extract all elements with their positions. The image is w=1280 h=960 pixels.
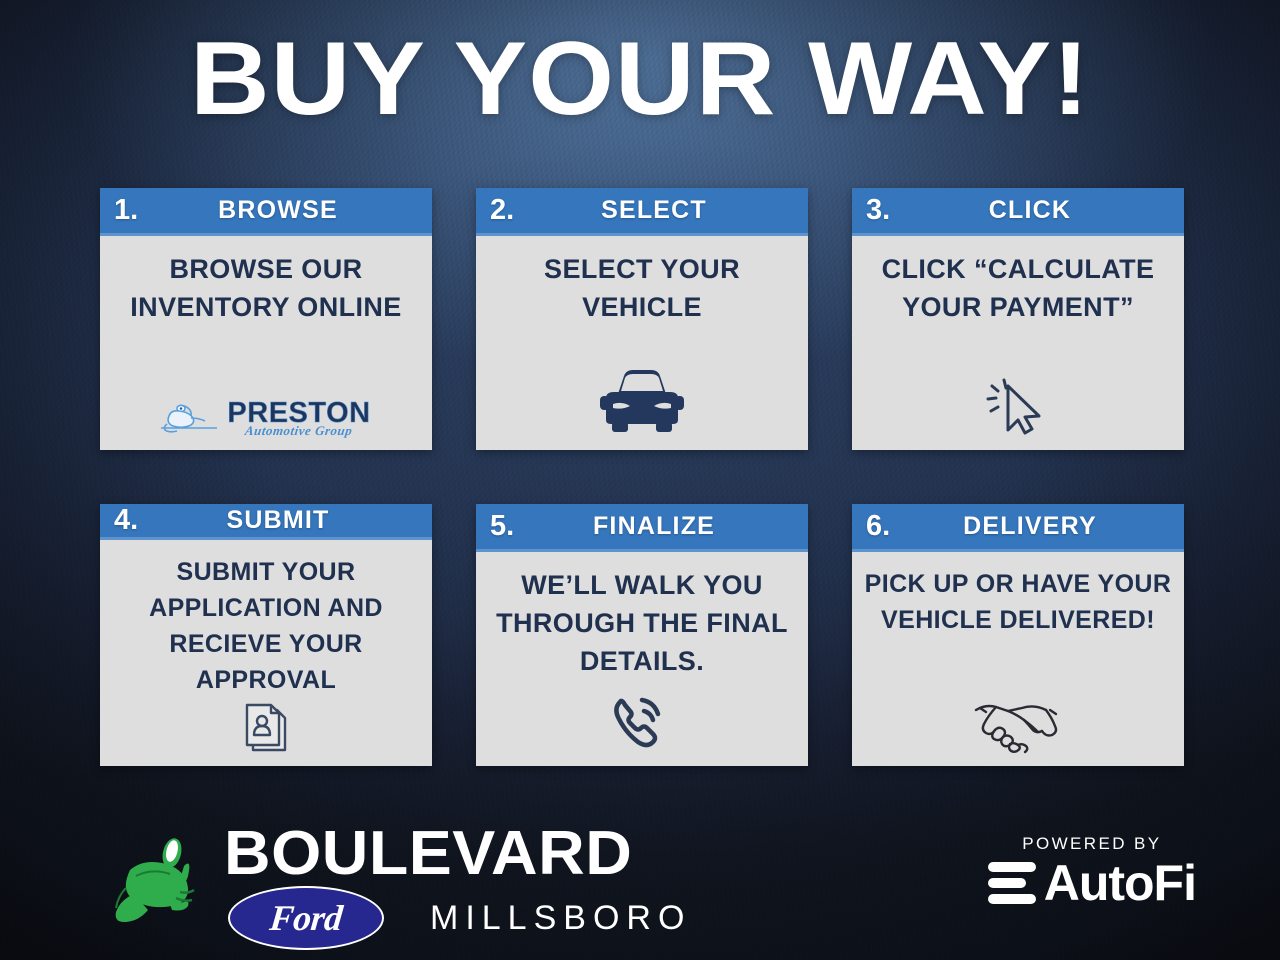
preston-frog-icon — [161, 402, 223, 436]
step-title: SELECT — [536, 196, 794, 225]
step-description: WE’LL WALK YOU THROUGH THE FINAL DETAILS… — [488, 566, 796, 680]
autofi-wordmark: AutoFi — [1044, 858, 1196, 908]
step-card-body: CLICK “CALCULATE YOUR PAYMENT” — [852, 236, 1184, 450]
powered-by-autofi: POWERED BY AutoFi — [988, 834, 1196, 908]
poster-background: BUY YOUR WAY! 1. BROWSE BROWSE OUR INVEN… — [0, 0, 1280, 960]
step-card-delivery[interactable]: 6. DELIVERY PICK UP OR HAVE YOUR VEHICLE… — [852, 504, 1184, 766]
dealer-name: BOULEVARD — [224, 824, 710, 884]
step-card-header: 1. BROWSE — [100, 188, 432, 236]
step-card-body: BROWSE OUR INVENTORY ONLINE — [100, 236, 432, 450]
step-number: 5. — [490, 510, 524, 543]
step-title: BROWSE — [160, 196, 418, 225]
step-card-header: 6. DELIVERY — [852, 504, 1184, 552]
ford-wordmark: Ford — [268, 900, 344, 936]
step-card-finalize[interactable]: 5. FINALIZE WE’LL WALK YOU THROUGH THE F… — [476, 504, 808, 766]
step-title: SUBMIT — [160, 506, 418, 535]
step-card-body: WE’LL WALK YOU THROUGH THE FINAL DETAILS… — [476, 552, 808, 766]
step-number: 6. — [866, 510, 900, 543]
ringing-phone-icon — [488, 690, 796, 758]
step-description: SELECT YOUR VEHICLE — [488, 250, 796, 326]
preston-logo: PRESTON Automotive Group — [112, 399, 420, 442]
step-title: CLICK — [912, 196, 1170, 225]
step-card-body: SELECT YOUR VEHICLE — [476, 236, 808, 450]
page-title: BUY YOUR WAY! — [0, 24, 1280, 134]
step-number: 3. — [866, 194, 900, 227]
dealer-city: MILLSBORO — [430, 899, 691, 938]
powered-by-label: POWERED BY — [988, 834, 1196, 854]
step-card-body: SUBMIT YOUR APPLICATION AND RECIEVE YOUR… — [100, 540, 432, 770]
boulevard-frog-logo-icon — [110, 836, 210, 928]
step-card-submit[interactable]: 4. SUBMIT SUBMIT YOUR APPLICATION AND RE… — [100, 504, 432, 766]
step-title: FINALIZE — [536, 512, 794, 541]
step-card-header: 3. CLICK — [852, 188, 1184, 236]
step-card-browse[interactable]: 1. BROWSE BROWSE OUR INVENTORY ONLINE — [100, 188, 432, 450]
autofi-bars-icon — [988, 862, 1036, 904]
click-cursor-icon — [864, 374, 1172, 442]
handshake-icon — [864, 698, 1172, 758]
step-description: PICK UP OR HAVE YOUR VEHICLE DELIVERED! — [864, 566, 1172, 638]
step-number: 1. — [114, 194, 148, 227]
application-document-icon — [112, 698, 420, 762]
step-card-header: 4. SUBMIT — [100, 504, 432, 540]
ford-logo: Ford — [228, 886, 384, 950]
step-card-header: 5. FINALIZE — [476, 504, 808, 552]
step-card-body: PICK UP OR HAVE YOUR VEHICLE DELIVERED! — [852, 552, 1184, 766]
step-title: DELIVERY — [912, 512, 1170, 541]
preston-logo-sub: Automotive Group — [244, 424, 353, 438]
step-number: 4. — [114, 504, 148, 537]
step-card-click[interactable]: 3. CLICK CLICK “CALCULATE YOUR PAYMENT” — [852, 188, 1184, 450]
step-description: CLICK “CALCULATE YOUR PAYMENT” — [864, 250, 1172, 326]
car-icon — [488, 364, 796, 442]
footer: BOULEVARD Ford MILLSBORO POWERED BY Auto… — [0, 810, 1280, 960]
step-card-select[interactable]: 2. SELECT SELECT YOUR VEHICLE — [476, 188, 808, 450]
steps-grid: 1. BROWSE BROWSE OUR INVENTORY ONLINE — [100, 188, 1185, 766]
step-number: 2. — [490, 194, 524, 227]
step-card-header: 2. SELECT — [476, 188, 808, 236]
dealer-brand-lockup: BOULEVARD Ford MILLSBORO — [110, 824, 691, 950]
step-description: SUBMIT YOUR APPLICATION AND RECIEVE YOUR… — [112, 554, 420, 698]
step-description: BROWSE OUR INVENTORY ONLINE — [112, 250, 420, 326]
